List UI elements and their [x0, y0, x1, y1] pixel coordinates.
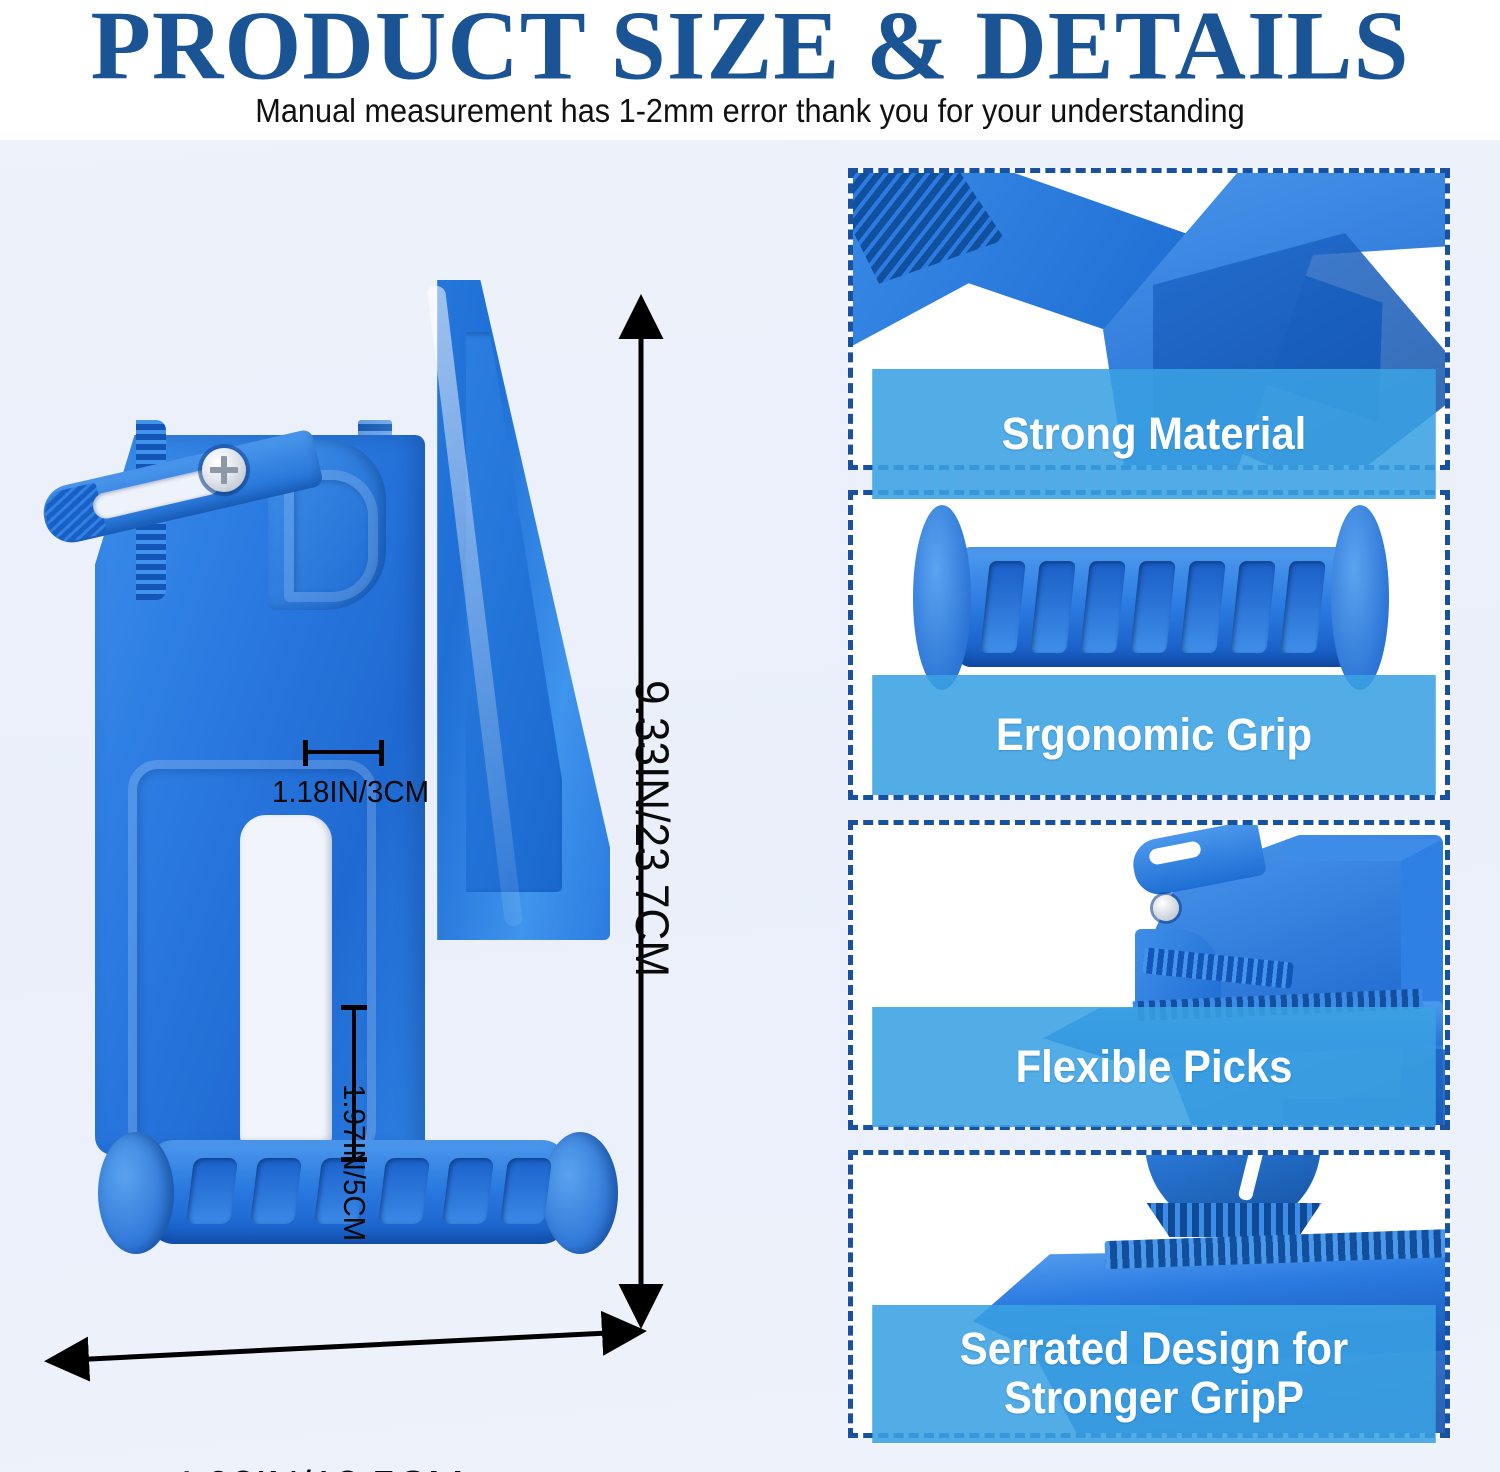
caption-line-1: Serrated Design for [960, 1325, 1348, 1374]
page-title: PRODUCT SIZE & DETAILS [0, 0, 1500, 98]
feature-panel-strong-material: Strong Material [848, 168, 1450, 470]
grip-groove [442, 1158, 494, 1224]
feature-panel-flexible-picks: Flexible Picks [848, 820, 1450, 1130]
grip-groove [186, 1158, 238, 1224]
overall-width-label: 4.92IN/12.5CM [170, 1460, 464, 1472]
header-band: PRODUCT SIZE & DETAILS Manual measuremen… [0, 0, 1500, 140]
grip-end-cap-left [913, 505, 971, 690]
grip-groove [500, 1158, 552, 1224]
jaw-opening-width-label: 1.18IN/3CM [272, 774, 429, 810]
phillips-screw-icon [1153, 895, 1179, 921]
feature-caption-flexible-picks: Flexible Picks [872, 1007, 1436, 1127]
feature-panel-serrated-design: Serrated Design for Stronger GripP [848, 1150, 1450, 1438]
overall-width-arrow [70, 1332, 628, 1360]
grip-groove [250, 1158, 302, 1224]
feature-panel-list: Strong Material Ergonomic Grip [848, 168, 1450, 1440]
overall-height-label: 9.33IN/23.7CM [625, 680, 680, 977]
infographic-page: PRODUCT SIZE & DETAILS Manual measuremen… [0, 0, 1500, 1472]
feature-panel-ergonomic-grip: Ergonomic Grip [848, 490, 1450, 800]
feature-caption-serrated-design: Serrated Design for Stronger GripP [872, 1305, 1436, 1443]
grip-end-cap-left [98, 1132, 174, 1254]
caption-line-2: Stronger GripP [1004, 1374, 1304, 1423]
grip-groove [378, 1158, 430, 1224]
body-notch-cutout [240, 815, 332, 1145]
feature-caption-ergonomic-grip: Ergonomic Grip [872, 675, 1436, 795]
feature-caption-strong-material: Strong Material [872, 369, 1436, 499]
phillips-screw-icon [202, 448, 246, 492]
grip-end-cap-right [1331, 505, 1389, 690]
product-measurement-zone: 4.92IN/12.5CM 9.33IN/23.7CM 1.18IN/3CM 1… [0, 140, 800, 1472]
grip-end-cap-right [542, 1132, 618, 1254]
handle-clearance-label: 1.97IN/5CM [336, 1084, 372, 1241]
disc-teeth [1139, 1203, 1329, 1237]
page-subtitle: Manual measurement has 1-2mm error thank… [53, 92, 1448, 130]
